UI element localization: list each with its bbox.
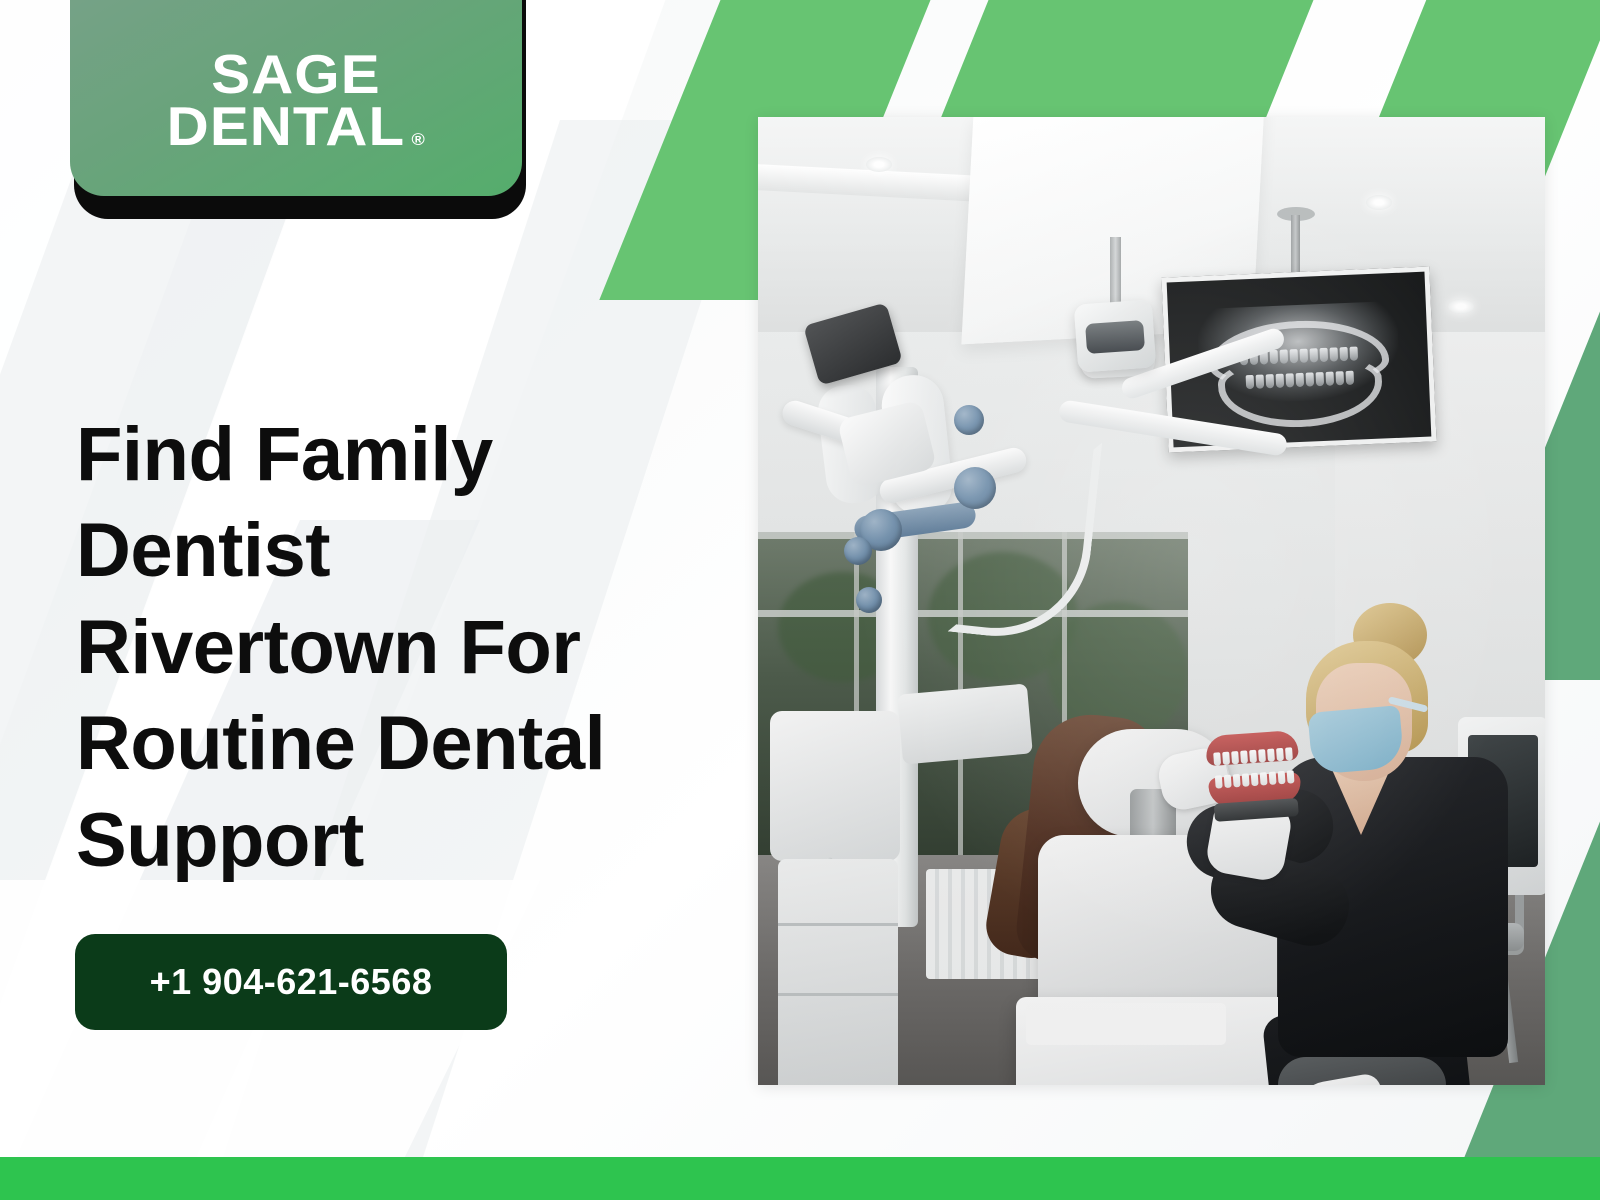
bottom-accent-bar — [0, 1157, 1600, 1200]
monitor-pole — [1291, 215, 1300, 277]
registered-trademark-icon: ® — [411, 132, 425, 148]
downlight-1 — [866, 157, 892, 172]
delivery-unit — [770, 711, 900, 861]
cart-divider-1 — [778, 923, 898, 926]
cart-divider-2 — [778, 993, 898, 996]
page-title: Find Family Dentist Rivertown For Routin… — [76, 407, 636, 890]
equipment-cart — [778, 859, 898, 1085]
logo-text-sage: SAGE — [211, 48, 380, 100]
marketing-poster: SAGE DENTAL ® Find Family Dentist Rivert… — [0, 0, 1600, 1200]
dental-chair-tray — [1026, 1003, 1226, 1045]
dental-jaw-model — [1205, 730, 1303, 824]
clinic-photo — [758, 117, 1545, 1085]
instrument-tray — [897, 683, 1033, 764]
microscope-knob-5 — [856, 587, 882, 613]
operating-light — [1074, 299, 1157, 372]
phone-cta-button[interactable]: +1 904-621-6568 — [75, 934, 507, 1030]
logo-text-dental: DENTAL — [166, 100, 404, 152]
brand-logo: SAGE DENTAL ® — [70, 0, 522, 205]
downlight-3 — [1448, 299, 1474, 314]
logo-card: SAGE DENTAL ® — [70, 0, 522, 196]
downlight-2 — [1366, 195, 1392, 210]
logo-text-dental-row: DENTAL ® — [166, 100, 425, 152]
clinic-photo-scene — [758, 117, 1545, 1085]
microscope-knob-4 — [844, 537, 872, 565]
